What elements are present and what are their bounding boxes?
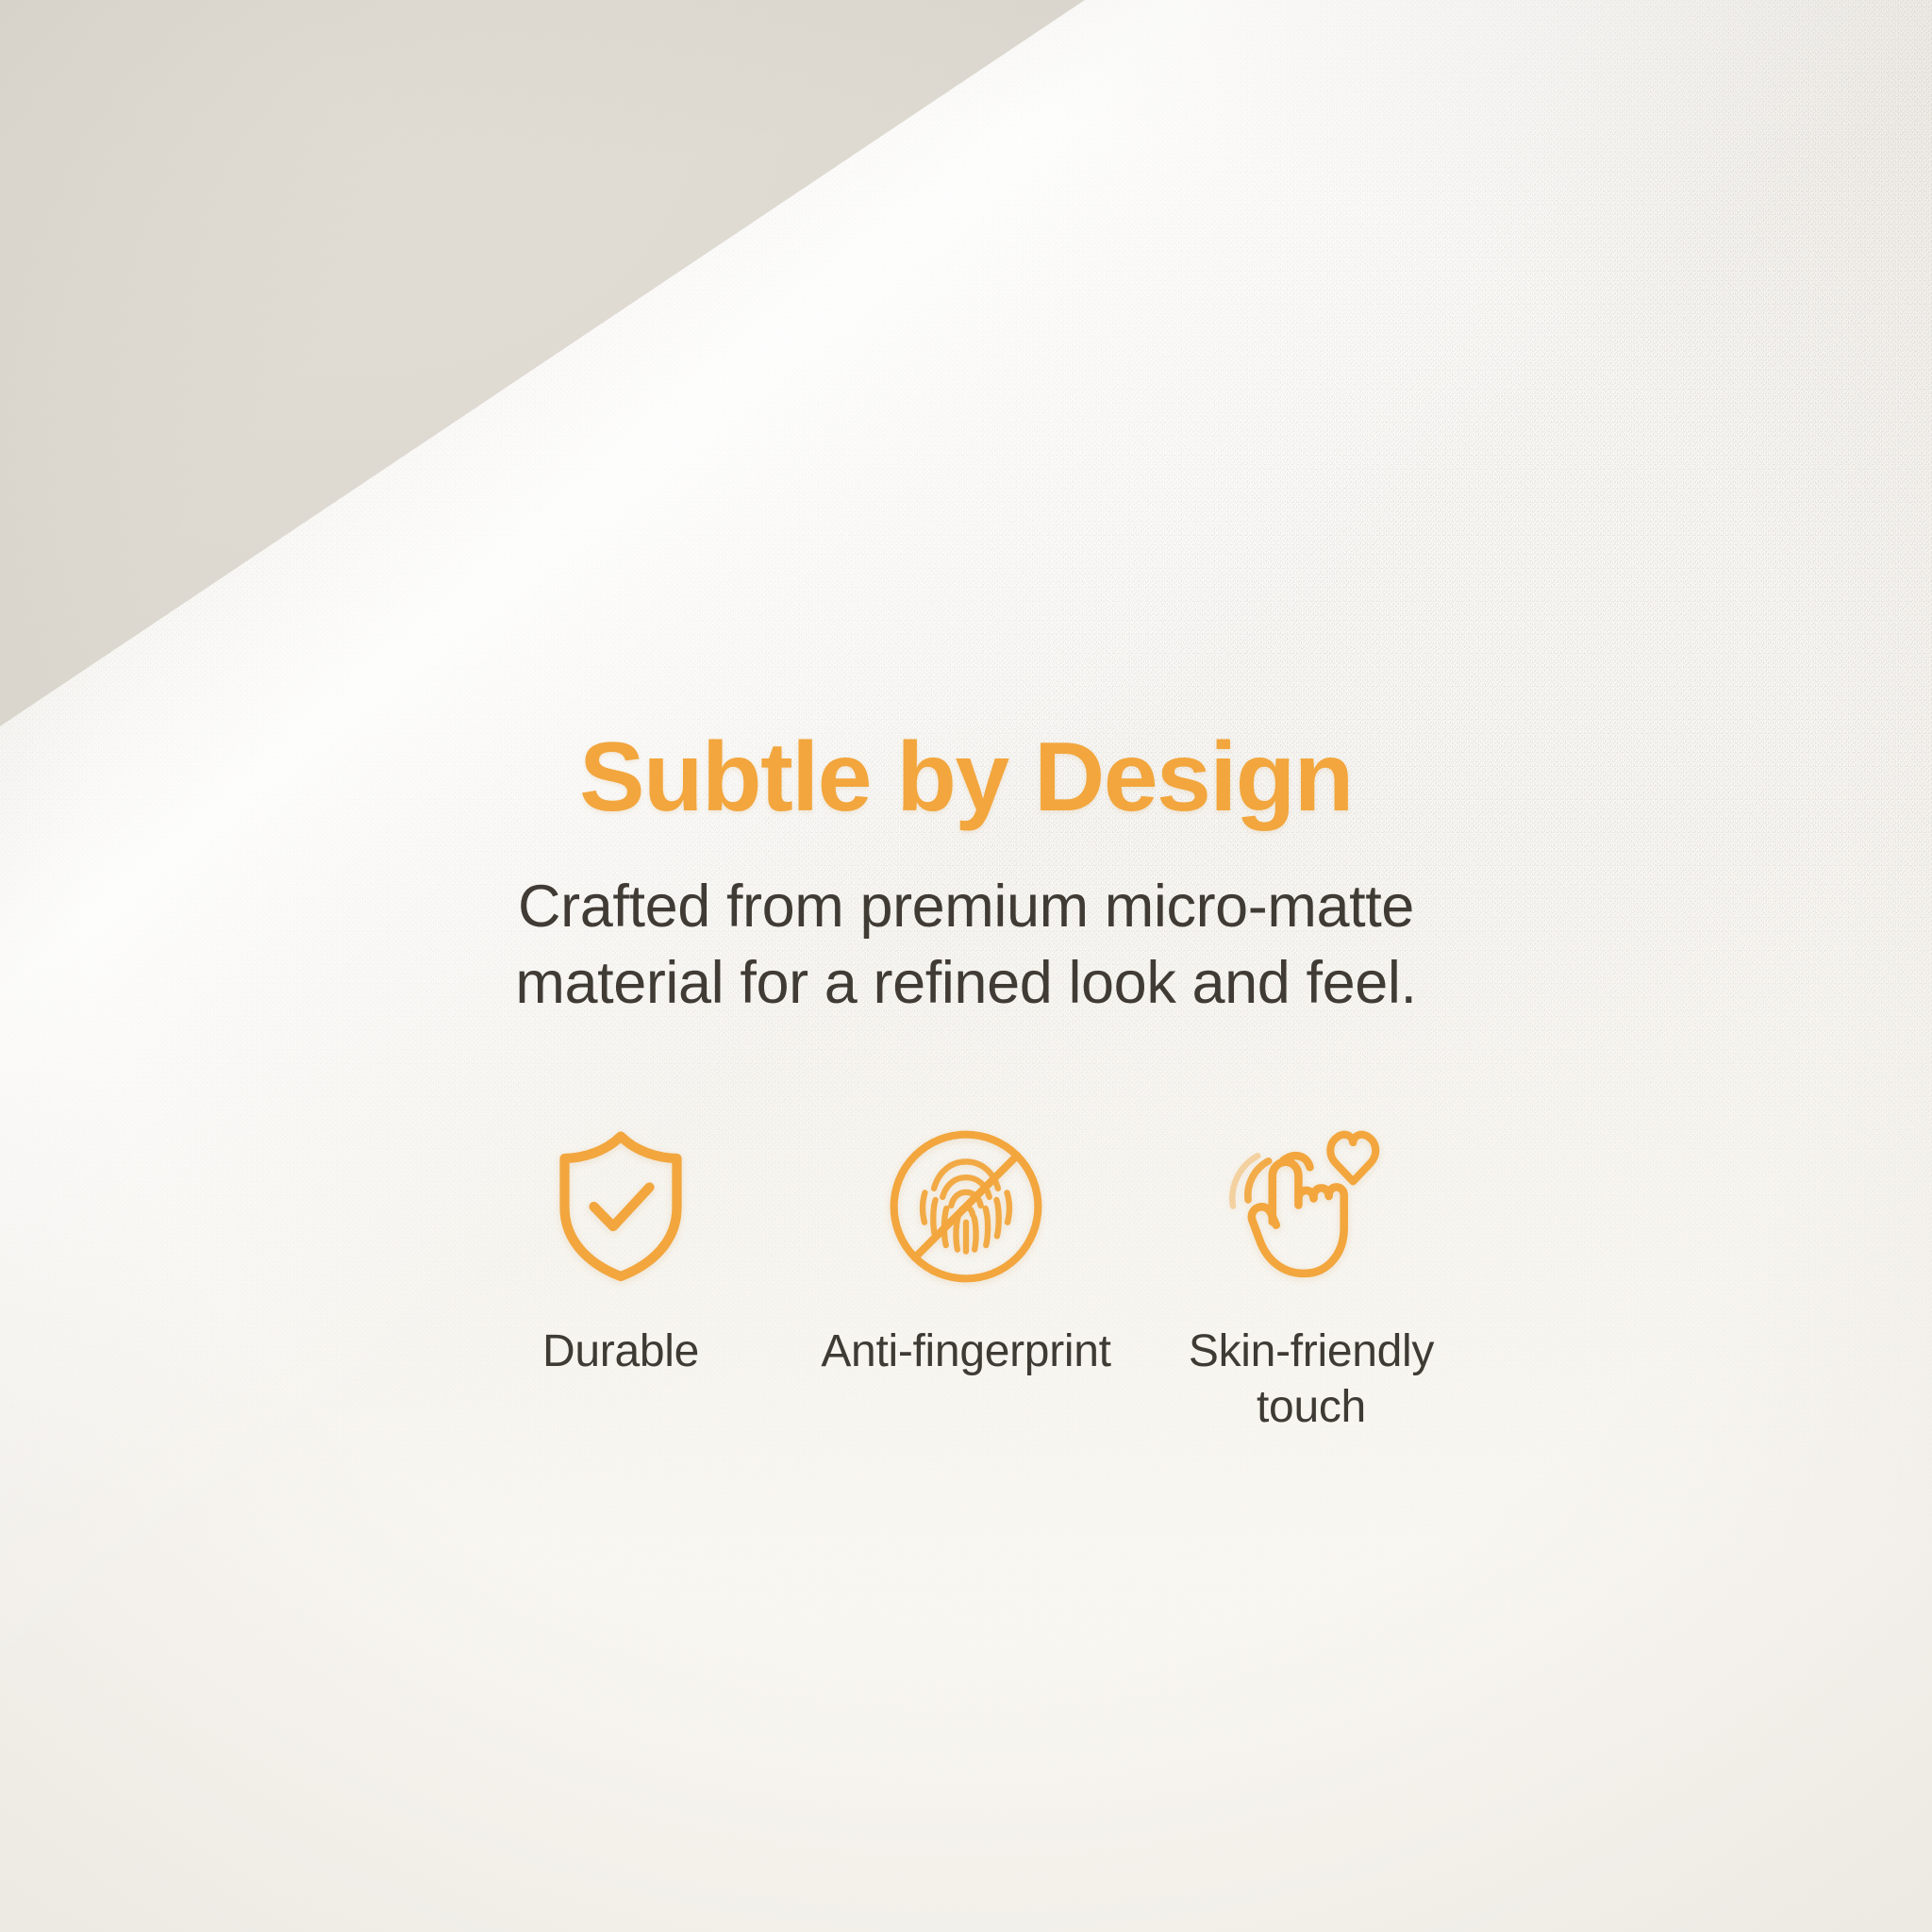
feature-label-skin-friendly-line-2: touch	[1257, 1382, 1366, 1432]
feature-label-skin-friendly-line-1: Skin-friendly	[1189, 1326, 1434, 1376]
feature-label-durable: Durable	[542, 1324, 699, 1380]
subheadline-line-2: material for a refined look and feel.	[515, 945, 1416, 1022]
subheadline: Crafted from premium micro-matte materia…	[515, 869, 1416, 1021]
subheadline-line-1: Crafted from premium micro-matte	[515, 869, 1416, 945]
shield-check-icon	[550, 1123, 691, 1291]
touch-heart-icon	[1228, 1123, 1394, 1291]
feature-label-anti-fingerprint: Anti-fingerprint	[821, 1324, 1110, 1380]
feature-list: Durable	[475, 1123, 1457, 1435]
feature-label-skin-friendly: Skin-friendly touch	[1189, 1324, 1434, 1435]
feature-item-anti-fingerprint: Anti-fingerprint	[820, 1123, 1112, 1380]
feature-item-durable: Durable	[475, 1123, 767, 1380]
headline: Subtle by Design	[579, 726, 1353, 829]
content-block: Subtle by Design Crafted from premium mi…	[0, 726, 1932, 1436]
no-fingerprint-icon	[885, 1123, 1047, 1291]
feature-item-skin-friendly: Skin-friendly touch	[1165, 1123, 1457, 1435]
product-feature-card: Subtle by Design Crafted from premium mi…	[0, 0, 1932, 1932]
